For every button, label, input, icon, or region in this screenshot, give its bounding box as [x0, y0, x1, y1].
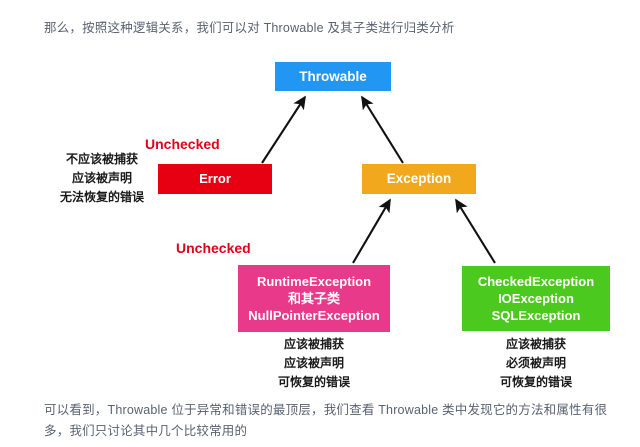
note-runtime-exception-line-3: 可恢复的错误 [238, 373, 390, 392]
node-checked-exception[interactable]: CheckedException IOException SQLExceptio… [462, 266, 610, 331]
edge-checked-to-exception [456, 200, 495, 263]
node-exception-label: Exception [387, 170, 452, 188]
node-runtime-exception-line-2: 和其子类 [288, 290, 340, 307]
note-runtime-exception-line-2: 应该被声明 [238, 354, 390, 373]
node-error-label: Error [199, 170, 231, 187]
node-runtime-exception[interactable]: RuntimeException 和其子类 NullPointerExcepti… [238, 265, 390, 332]
note-runtime-exception: 应该被捕获 应该被声明 可恢复的错误 [238, 335, 390, 392]
node-error[interactable]: Error [158, 164, 272, 194]
note-error-line-2: 应该被声明 [50, 169, 154, 188]
note-error-line-3: 无法恢复的错误 [50, 188, 154, 207]
node-checked-exception-line-1: CheckedException [478, 273, 594, 290]
node-throwable-label: Throwable [299, 68, 367, 86]
note-checked-exception-line-2: 必须被声明 [462, 354, 610, 373]
page-canvas: 那么，按照这种逻辑关系，我们可以对 Throwable 及其子类进行归类分析 T… [0, 0, 640, 447]
note-checked-exception: 应该被捕获 必须被声明 可恢复的错误 [462, 335, 610, 392]
tag-unchecked-runtime: Unchecked [176, 240, 251, 256]
edge-exception-to-throwable [362, 97, 403, 163]
tag-unchecked-error: Unchecked [145, 136, 220, 152]
note-error-line-1: 不应该被捕获 [50, 150, 154, 169]
node-throwable[interactable]: Throwable [275, 62, 391, 91]
outro-paragraph: 可以看到，Throwable 位于异常和错误的最顶层，我们查看 Throwabl… [44, 400, 610, 442]
node-exception[interactable]: Exception [362, 164, 476, 194]
note-checked-exception-line-1: 应该被捕获 [462, 335, 610, 354]
edge-runtime-to-exception [353, 200, 390, 263]
intro-paragraph: 那么，按照这种逻辑关系，我们可以对 Throwable 及其子类进行归类分析 [44, 18, 604, 39]
throwable-hierarchy-diagram: Throwable Error Exception RuntimeExcepti… [0, 50, 640, 395]
node-checked-exception-line-2: IOException [498, 290, 574, 307]
note-checked-exception-line-3: 可恢复的错误 [462, 373, 610, 392]
node-checked-exception-line-3: SQLException [492, 307, 581, 324]
node-runtime-exception-line-3: NullPointerException [248, 307, 379, 324]
node-runtime-exception-line-1: RuntimeException [257, 273, 371, 290]
note-error: 不应该被捕获 应该被声明 无法恢复的错误 [50, 150, 154, 207]
edge-error-to-throwable [262, 97, 305, 163]
note-runtime-exception-line-1: 应该被捕获 [238, 335, 390, 354]
